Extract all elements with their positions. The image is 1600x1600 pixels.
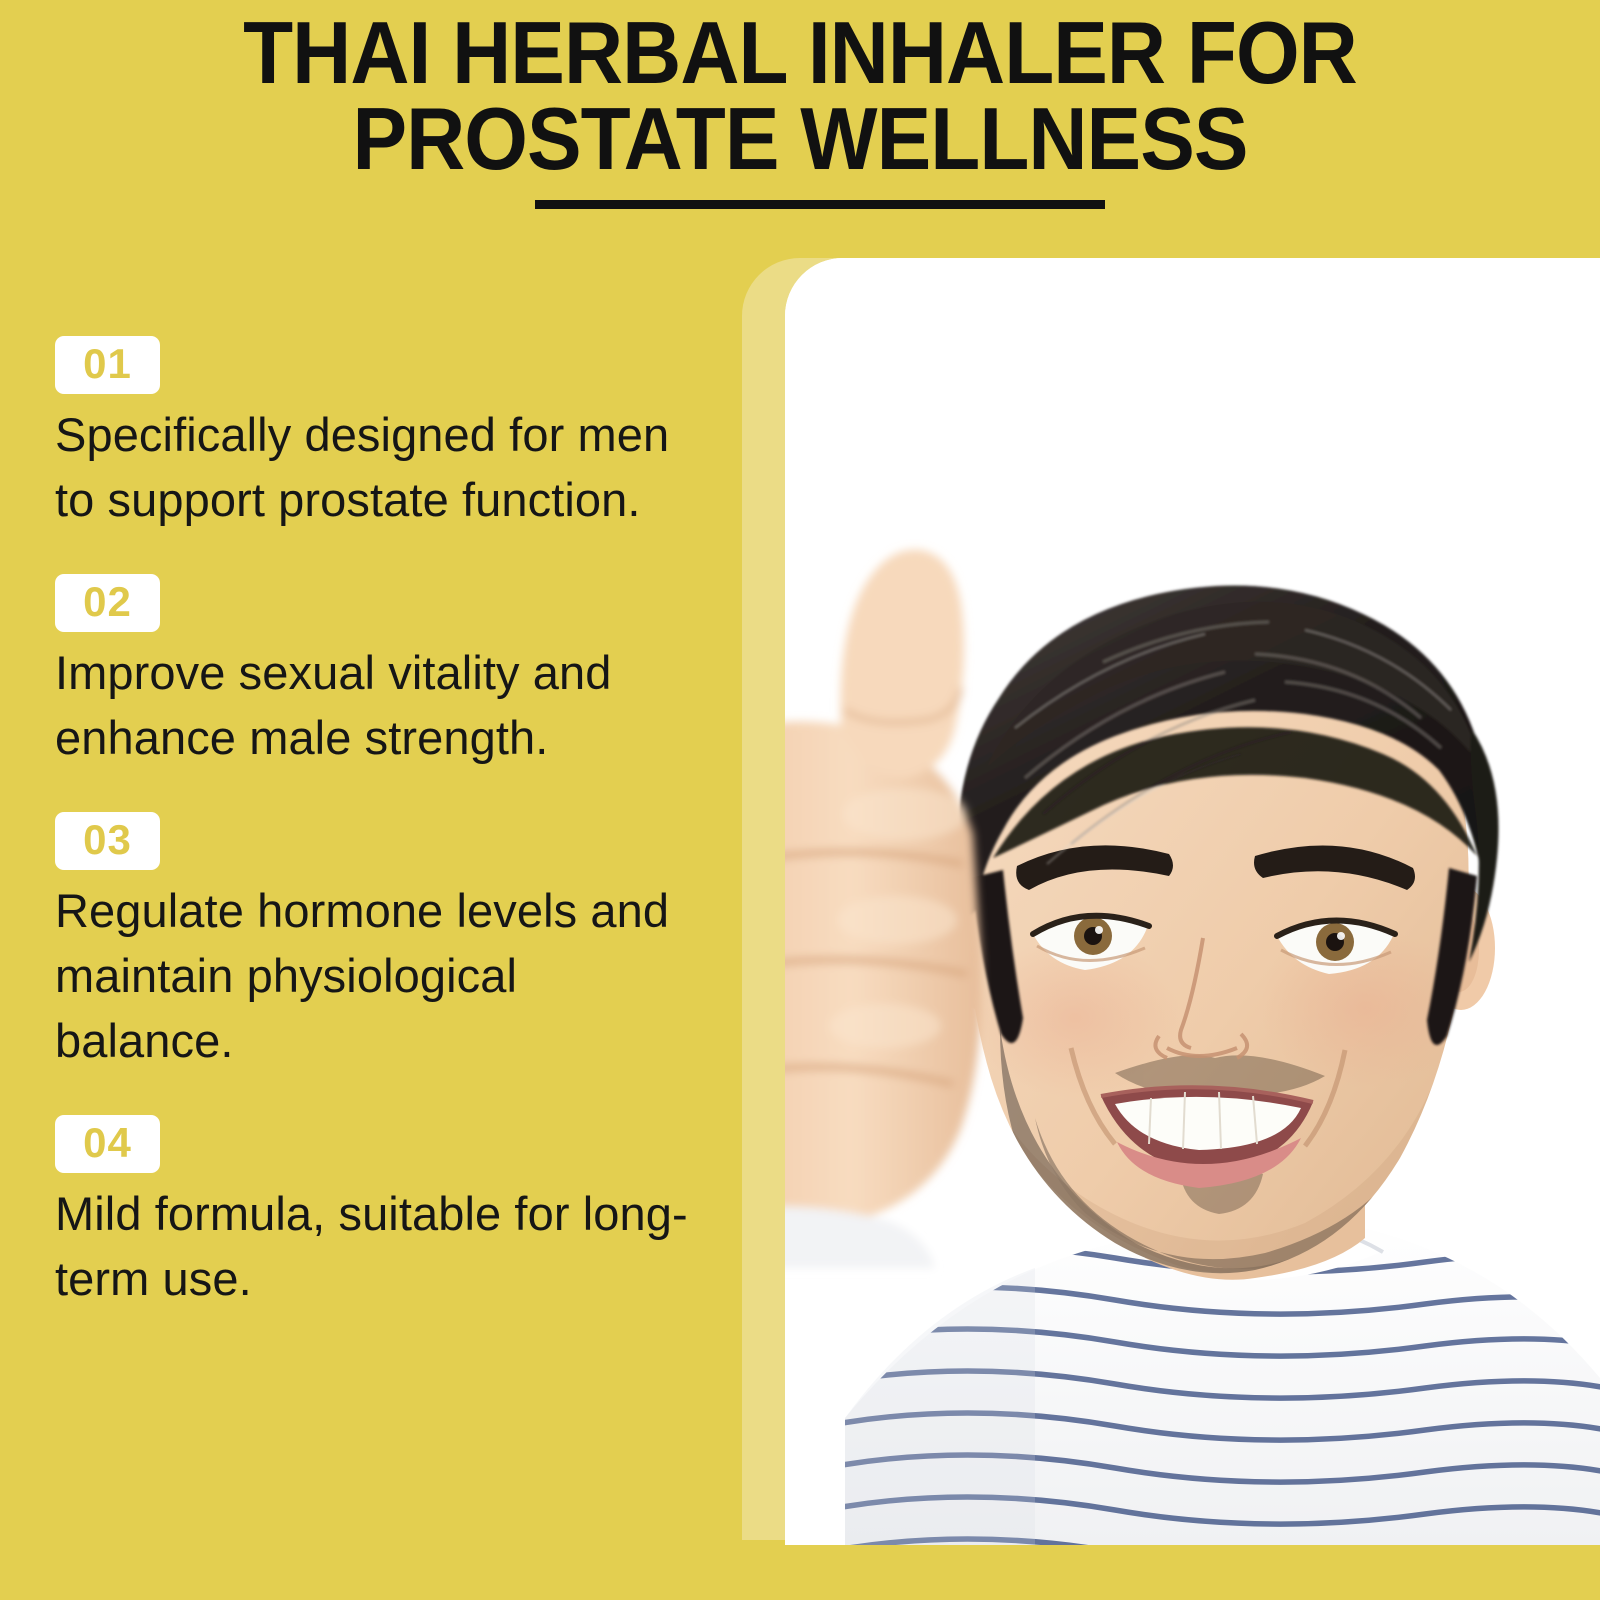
feature-number: 04 xyxy=(83,1119,132,1166)
feature-item: 02 Improve sexual vitality and enhance m… xyxy=(55,574,715,770)
title-underline-accent xyxy=(535,200,1105,209)
feature-list: 01 Specifically designed for men to supp… xyxy=(55,336,715,1353)
photo-card xyxy=(785,258,1600,1545)
feature-description: Specifically designed for men to support… xyxy=(55,402,695,532)
feature-number-badge: 02 xyxy=(55,574,160,632)
feature-item: 04 Mild formula, suitable for long-term … xyxy=(55,1115,715,1311)
feature-description: Improve sexual vitality and enhance male… xyxy=(55,640,695,770)
page-title: THAI HERBAL INHALER FOR PROSTATE WELLNES… xyxy=(56,10,1544,182)
feature-number-badge: 01 xyxy=(55,336,160,394)
feature-description: Regulate hormone levels and maintain phy… xyxy=(55,878,695,1073)
feature-item: 03 Regulate hormone levels and maintain … xyxy=(55,812,715,1073)
feature-item: 01 Specifically designed for men to supp… xyxy=(55,336,715,532)
model-portrait-image xyxy=(785,258,1600,1545)
feature-number-badge: 03 xyxy=(55,812,160,870)
header-banner: THAI HERBAL INHALER FOR PROSTATE WELLNES… xyxy=(0,0,1600,232)
feature-description: Mild formula, suitable for long-term use… xyxy=(55,1181,695,1311)
feature-number: 01 xyxy=(83,340,132,387)
feature-number: 03 xyxy=(83,816,132,863)
feature-number: 02 xyxy=(83,578,132,625)
feature-number-badge: 04 xyxy=(55,1115,160,1173)
